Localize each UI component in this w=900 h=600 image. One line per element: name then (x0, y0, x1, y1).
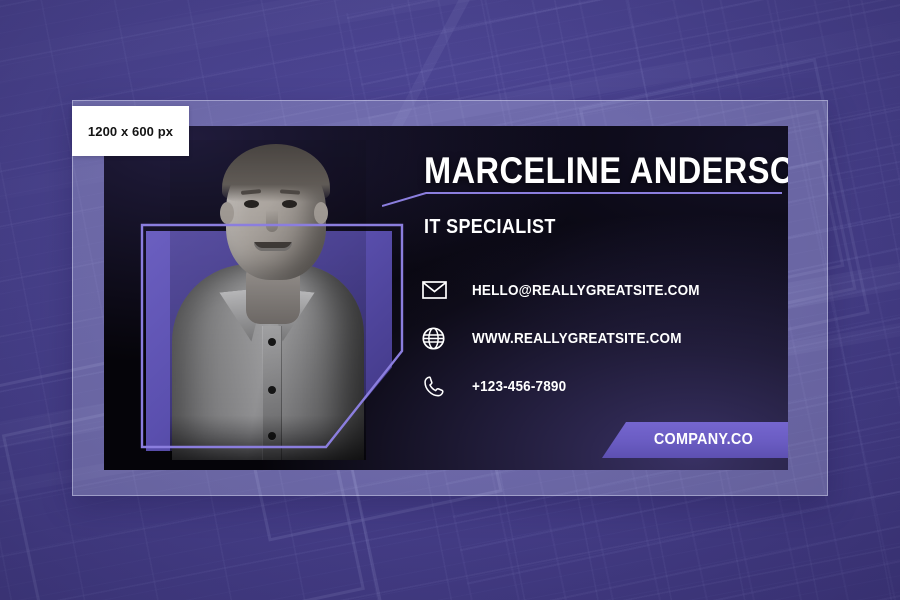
portrait-outline-frame (140, 223, 404, 449)
contact-phone-row[interactable]: +123-456-7890 (422, 362, 782, 410)
person-role: IT SPECIALIST (424, 216, 556, 239)
screenshot-canvas: MARCELINE ANDERSON IT SPECIALIST HELLO@R… (0, 0, 900, 600)
contact-email-text: HELLO@REALLYGREATSITE.COM (472, 282, 700, 299)
contact-email-row[interactable]: HELLO@REALLYGREATSITE.COM (422, 266, 782, 314)
business-card: MARCELINE ANDERSON IT SPECIALIST HELLO@R… (104, 126, 788, 470)
company-banner-label: COMPANY.CO (641, 431, 753, 449)
company-banner: COMPANY.CO (602, 422, 788, 458)
name-divider (382, 190, 784, 208)
contact-website-text: WWW.REALLYGREATSITE.COM (472, 330, 682, 347)
contact-phone-text: +123-456-7890 (472, 378, 566, 395)
size-badge-label: 1200 x 600 px (88, 124, 173, 139)
size-badge: 1200 x 600 px (72, 106, 189, 156)
card-info-section: MARCELINE ANDERSON IT SPECIALIST HELLO@R… (420, 126, 788, 470)
portrait-section (104, 126, 404, 470)
globe-icon (422, 324, 456, 352)
envelope-icon (422, 276, 456, 304)
contact-website-row[interactable]: WWW.REALLYGREATSITE.COM (422, 314, 782, 362)
contact-list: HELLO@REALLYGREATSITE.COM WWW.REALLYGREA… (422, 266, 782, 410)
phone-icon (422, 372, 456, 400)
person-name: MARCELINE ANDERSON (424, 150, 788, 192)
